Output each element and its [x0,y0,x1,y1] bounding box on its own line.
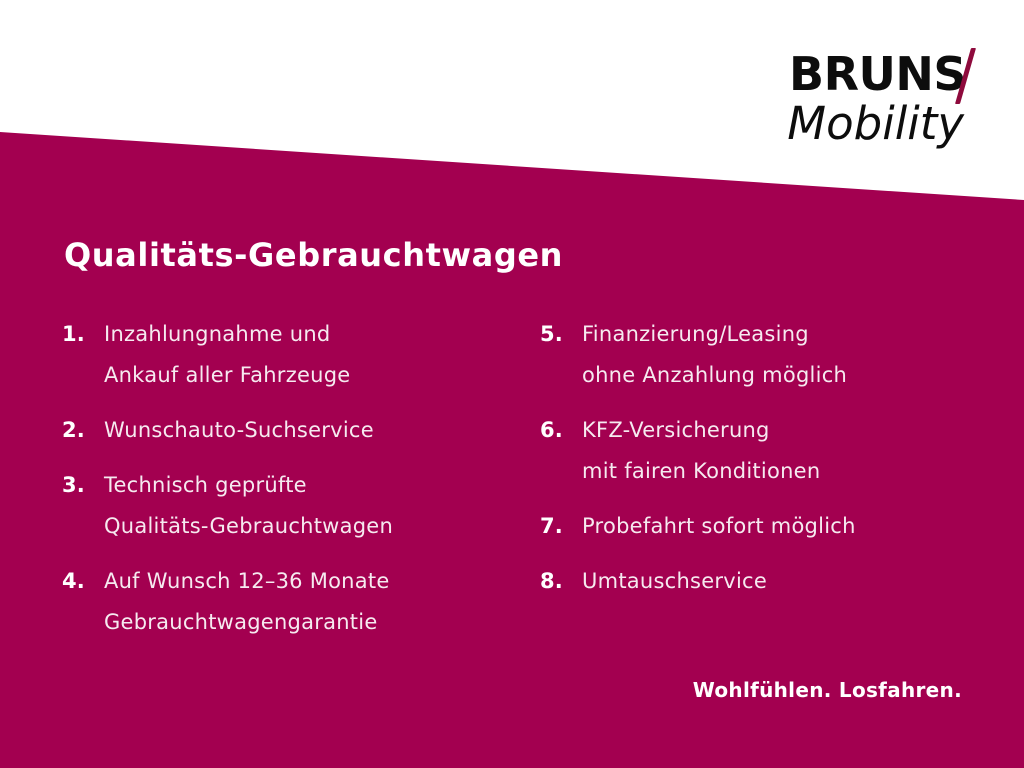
list-item-line: Umtauschservice [582,561,1000,602]
brand-logo: BRUNS Mobility [787,46,966,150]
list-item-line: KFZ-Versicherung [582,410,1000,451]
list-item-text: Finanzierung/Leasing ohne Anzahlung mögl… [582,314,1000,396]
page-title: Qualitäts-Gebrauchtwagen [64,236,563,274]
list-item: 6. KFZ-Versicherung mit fairen Kondition… [540,410,1000,492]
brand-tagline: Wohlfühlen. Losfahren. [693,678,962,702]
list-item: 3. Technisch geprüfte Qualitäts-Gebrauch… [62,465,522,547]
list-item-line: Ankauf aller Fahrzeuge [104,355,522,396]
logo-brand-text: BRUNS [789,46,966,102]
list-item-line: Qualitäts-Gebrauchtwagen [104,506,522,547]
list-item-text: Probefahrt sofort möglich [582,506,1000,547]
list-item: 8. Umtauschservice [540,561,1000,602]
service-list-left-column: 1. Inzahlungnahme und Ankauf aller Fahrz… [62,314,522,657]
list-item-text: KFZ-Versicherung mit fairen Konditionen [582,410,1000,492]
list-item-number: 5. [540,314,582,355]
list-item-line: Probefahrt sofort möglich [582,506,1000,547]
list-item: 4. Auf Wunsch 12–36 Monate Gebrauchtwage… [62,561,522,643]
list-item-text: Wunschauto-Suchservice [104,410,522,451]
list-item-text: Technisch geprüfte Qualitäts-Gebrauchtwa… [104,465,522,547]
list-item-number: 3. [62,465,104,506]
list-item: 2. Wunschauto-Suchservice [62,410,522,451]
list-item-line: Wunschauto-Suchservice [104,410,522,451]
list-item-text: Umtauschservice [582,561,1000,602]
list-item: 5. Finanzierung/Leasing ohne Anzahlung m… [540,314,1000,396]
list-item-number: 2. [62,410,104,451]
list-item-number: 8. [540,561,582,602]
list-item-line: Inzahlungnahme und [104,314,522,355]
list-item-text: Inzahlungnahme und Ankauf aller Fahrzeug… [104,314,522,396]
list-item-number: 4. [62,561,104,602]
list-item: 1. Inzahlungnahme und Ankauf aller Fahrz… [62,314,522,396]
list-item-line: Gebrauchtwagengarantie [104,602,522,643]
logo-primary-row: BRUNS [789,46,966,102]
list-item-line: Finanzierung/Leasing [582,314,1000,355]
service-list-right-column: 5. Finanzierung/Leasing ohne Anzahlung m… [540,314,1000,616]
list-item-number: 7. [540,506,582,547]
list-item-number: 1. [62,314,104,355]
list-item: 7. Probefahrt sofort möglich [540,506,1000,547]
list-item-line: Auf Wunsch 12–36 Monate [104,561,522,602]
list-item-text: Auf Wunsch 12–36 Monate Gebrauchtwagenga… [104,561,522,643]
slide-canvas: BRUNS Mobility Qualitäts-Gebrauchtwagen … [0,0,1024,768]
logo-subbrand-text: Mobility [787,98,964,150]
list-item-line: mit fairen Konditionen [582,451,1000,492]
list-item-number: 6. [540,410,582,451]
list-item-line: ohne Anzahlung möglich [582,355,1000,396]
list-item-line: Technisch geprüfte [104,465,522,506]
